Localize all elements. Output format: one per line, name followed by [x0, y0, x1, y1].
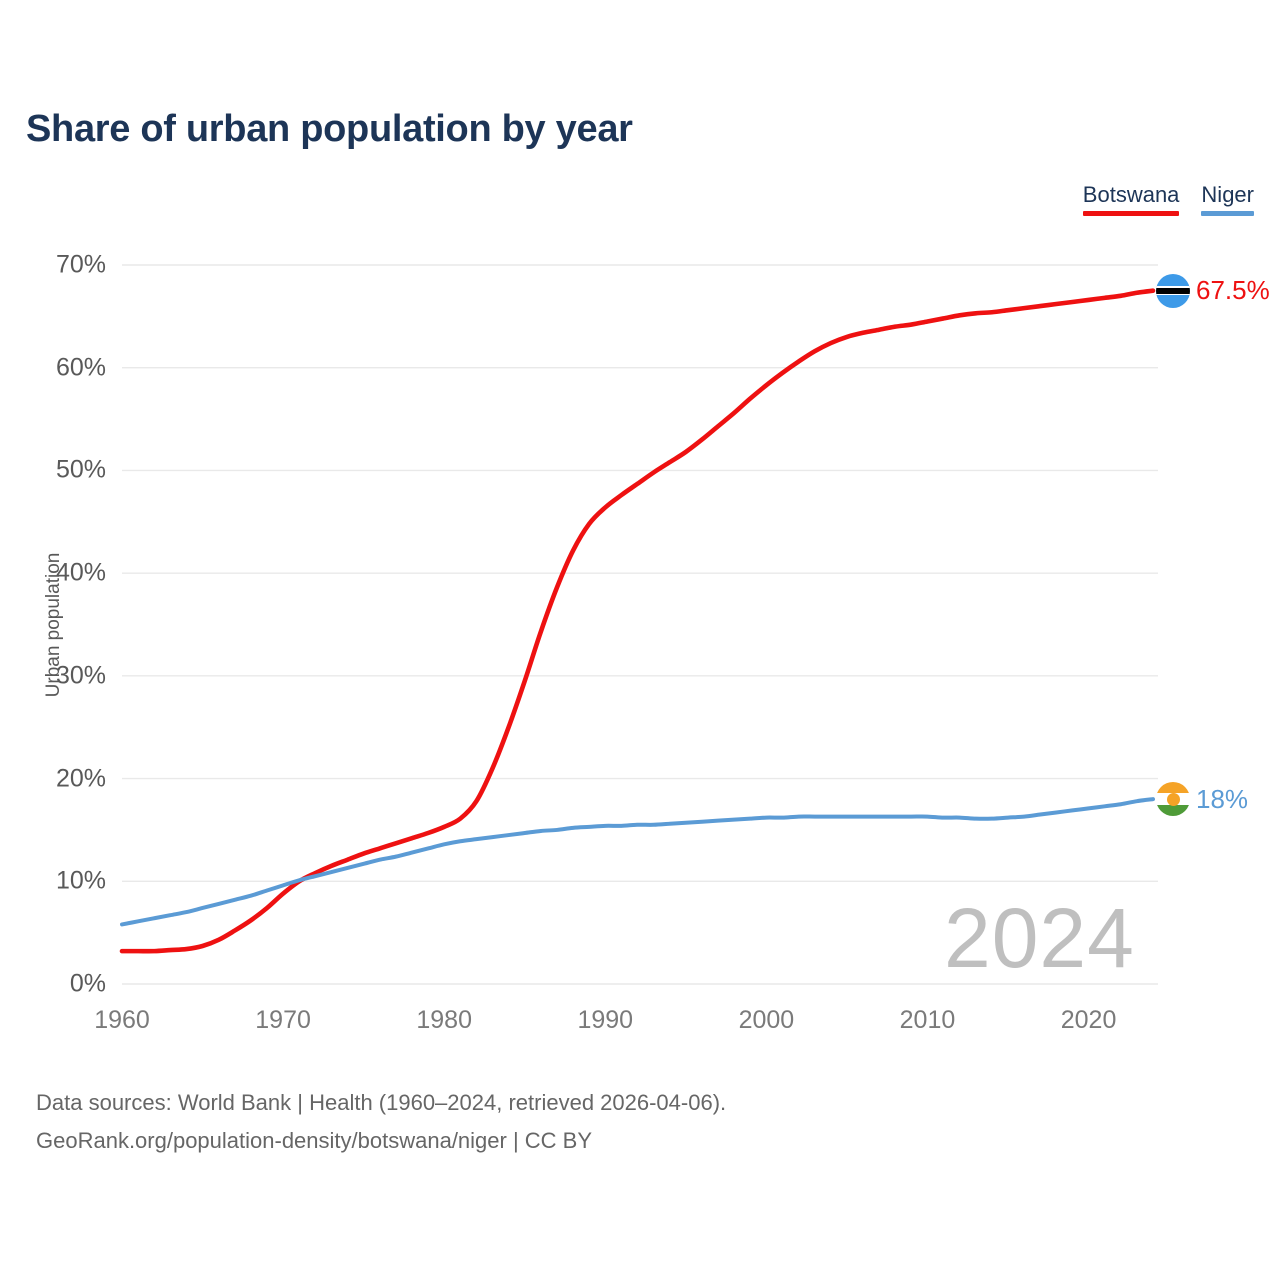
botswana-endpoint[interactable]: 67.5% — [1156, 274, 1270, 308]
y-axis-tick-label: 50% — [10, 456, 106, 485]
x-axis-tick-label: 1970 — [223, 1006, 343, 1035]
flag-band-green — [1156, 805, 1190, 816]
y-axis-tick-label: 10% — [10, 867, 106, 896]
y-axis-tick-label: 60% — [10, 353, 106, 382]
x-axis-tick-label: 2000 — [706, 1006, 826, 1035]
x-axis-tick-label: 1980 — [384, 1006, 504, 1035]
flag-stripe-black — [1156, 288, 1190, 294]
y-axis-tick-label: 20% — [10, 764, 106, 793]
botswana-endpoint-value: 67.5% — [1196, 275, 1270, 306]
year-watermark: 2024 — [944, 890, 1135, 987]
footer: Data sources: World Bank | Health (1960–… — [36, 1084, 726, 1160]
footer-attribution: GeoRank.org/population-density/botswana/… — [36, 1122, 726, 1160]
x-axis-tick-label: 1990 — [545, 1006, 665, 1035]
botswana-flag-icon — [1156, 274, 1190, 308]
chart-page: Share of urban population by year Botswa… — [0, 0, 1280, 1280]
y-axis-tick-label: 70% — [10, 251, 106, 280]
x-axis-tick-label: 1960 — [62, 1006, 182, 1035]
niger-endpoint[interactable]: 18% — [1156, 782, 1248, 816]
chart-gridlines — [122, 265, 1158, 984]
niger-flag-icon — [1156, 782, 1190, 816]
x-axis-tick-label: 2020 — [1029, 1006, 1149, 1035]
flag-band-orange — [1156, 782, 1190, 793]
niger-endpoint-value: 18% — [1196, 784, 1248, 815]
footer-data-sources: Data sources: World Bank | Health (1960–… — [36, 1084, 726, 1122]
series-line-botswana — [122, 291, 1153, 952]
chart-series-lines — [122, 291, 1153, 952]
y-axis-label: Urban population — [43, 525, 65, 725]
flag-disc-orange — [1167, 793, 1180, 806]
y-axis-tick-label: 0% — [10, 970, 106, 999]
x-axis-tick-label: 2010 — [867, 1006, 987, 1035]
